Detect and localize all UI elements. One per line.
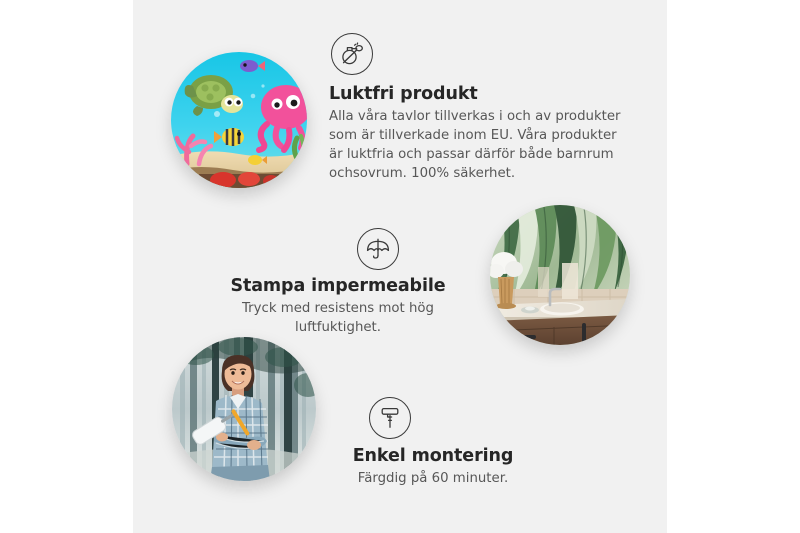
no-fragrance-icon — [331, 33, 373, 75]
feature-block-luktfri-produkt: Luktfri produkt Alla våra tavlor tillver… — [329, 33, 629, 184]
feature-panel: Luktfri produkt Alla våra tavlor tillver… — [133, 0, 667, 533]
woman-paint-roller-forest-photo — [172, 337, 316, 481]
feature-title: Enkel montering — [308, 446, 558, 467]
umbrella-icon — [357, 228, 399, 270]
feature-description: Alla våra tavlor tillverkas i och av pro… — [329, 108, 629, 184]
feature-icon-row — [308, 397, 558, 439]
feature-block-enkel-montering: Enkel montering Färgdig på 60 minuter. — [308, 397, 558, 489]
feature-icon-row — [208, 228, 468, 270]
paint-roller-icon — [369, 397, 411, 439]
feature-block-stampa-impermeabile: Stampa impermeabile Tryck med resistens … — [208, 228, 468, 338]
promo-graphic: Luktfri produkt Alla våra tavlor tillver… — [0, 0, 800, 533]
feature-description: Tryck med resistens mot hög luftfuktighe… — [208, 300, 468, 338]
feature-title: Stampa impermeabile — [208, 276, 468, 297]
feature-title: Luktfri produkt — [329, 84, 629, 105]
bathroom-vanity-wallpaper-photo — [490, 205, 630, 345]
feature-description: Färgdig på 60 minuter. — [308, 470, 558, 489]
underwater-children-mural-photo — [171, 52, 307, 188]
